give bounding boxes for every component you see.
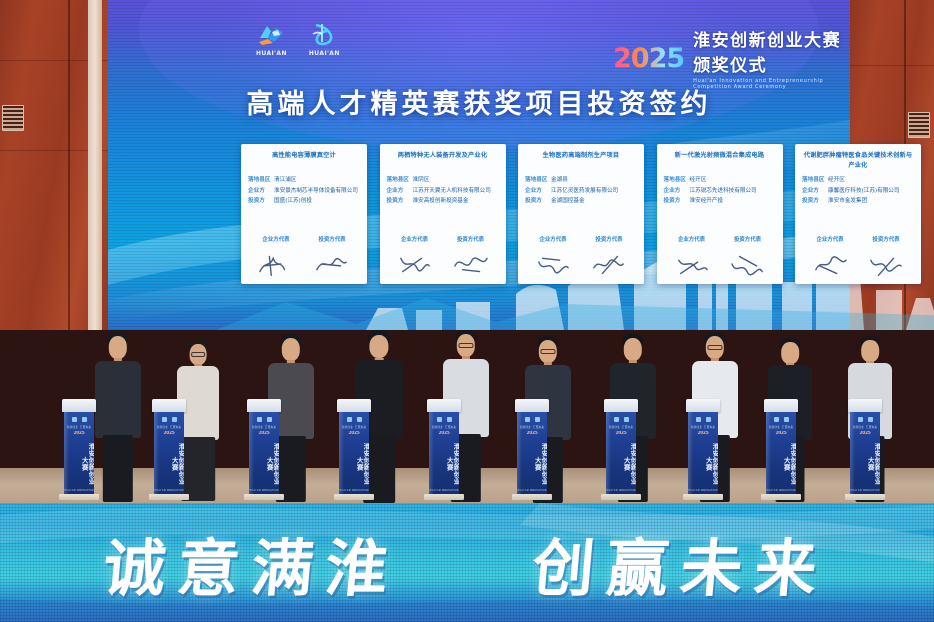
card-row-investor-label: 投资方: [802, 197, 828, 205]
lectern-base: [601, 494, 641, 500]
lectern-logo-pair: [249, 417, 279, 422]
card-row-company: 企业方江苏开天翼无人机科技有限公司: [387, 187, 499, 195]
lectern-vertical-title: 淮安创新创业大赛: [766, 440, 796, 488]
lectern-subtitle: 创新创业 汇聚未来: [606, 425, 636, 429]
lectern: 创新创业 汇聚未来2025淮安创新创业大赛HUAI'AN INNOVATION: [337, 399, 371, 500]
card-row-company-value: 康馨医疗科技(江苏)有限公司: [828, 187, 914, 195]
company-rep-signature: [807, 247, 853, 281]
page-title: 高端人才精英赛获奖项目投资签约: [108, 82, 850, 121]
card-row-district-value: 金湖县: [551, 176, 637, 184]
card-row-investor: 投资方淮安经开产投: [664, 197, 776, 205]
lectern-logo-pair: [850, 417, 880, 422]
lectern-banner: 创新创业 汇聚未来2025淮安创新创业大赛HUAI'AN INNOVATION: [64, 412, 94, 494]
lectern-banner: 创新创业 汇聚未来2025淮安创新创业大赛HUAI'AN INNOVATION: [766, 412, 796, 494]
lectern-logo-right: [357, 417, 362, 422]
company-rep-signature: [392, 247, 438, 281]
lectern-top-surface: [152, 399, 186, 412]
lectern-row: 创新创业 汇聚未来2025淮安创新创业大赛HUAI'AN INNOVATION创…: [0, 360, 934, 500]
lectern-base: [512, 494, 552, 500]
lectern-footer: HUAI'AN INNOVATION: [249, 489, 279, 492]
slogan-right: 创赢未来: [530, 518, 834, 608]
card-row-investor: 投资方国盛(江苏)创投: [248, 197, 360, 205]
lectern-footer: HUAI'AN INNOVATION: [339, 489, 369, 492]
lectern-subtitle-right: 汇聚未来: [445, 426, 456, 429]
lectern-banner: 创新创业 汇聚未来2025淮安创新创业大赛HUAI'AN INNOVATION: [154, 412, 184, 494]
lectern-top-surface: [515, 399, 549, 412]
card-detail-rows: 落地县区经开区企业方康馨医疗科技(江苏)有限公司投资方淮安市金发集团: [802, 176, 914, 205]
lectern-logo-right: [82, 417, 87, 422]
lectern-logo-pair: [517, 417, 547, 422]
lectern-subtitle-left: 创新创业: [853, 426, 864, 429]
lectern: 创新创业 汇聚未来2025淮安创新创业大赛HUAI'AN INNOVATION: [848, 399, 882, 500]
person-glasses: [191, 352, 205, 357]
investor-rep-label: 投资方代表: [734, 235, 761, 243]
card-row-investor-label: 投资方: [248, 197, 274, 205]
signature-row: [802, 244, 914, 284]
card-row-district: 落地县区淮阴区: [387, 176, 499, 184]
lectern-subtitle-left: 创新创业: [342, 426, 353, 429]
lectern-banner: 创新创业 汇聚未来2025淮安创新创业大赛HUAI'AN INNOVATION: [517, 412, 547, 494]
card-title: 新一代激光射频微混合集成电路: [664, 151, 776, 171]
lectern-base: [424, 494, 464, 500]
event-header: 2025 淮安创新创业大赛颁奖仪式 Huai'an Innovation and…: [613, 26, 850, 90]
lectern-subtitle-left: 创新创业: [691, 426, 702, 429]
signing-card: 两栖特种无人装备开发及产业化落地县区淮阴区企业方江苏开天翼无人机科技有限公司投资…: [380, 144, 506, 284]
signature-row: [387, 244, 499, 284]
signature-row: [525, 244, 637, 284]
lectern-vertical-title: 淮安创新创业大赛: [249, 440, 279, 488]
lectern-top-surface: [686, 399, 720, 412]
card-row-investor-label: 投资方: [525, 197, 551, 205]
lectern-footer: HUAI'AN INNOVATION: [517, 489, 547, 492]
lectern-logo-right: [624, 417, 629, 422]
person-glasses: [707, 345, 722, 350]
lectern-top-surface: [62, 399, 96, 412]
huaian-culture-icon: [309, 22, 339, 48]
lectern-base: [59, 494, 99, 500]
lectern-logo-pair: [766, 417, 796, 422]
event-title-cn: 淮安创新创业大赛颁奖仪式: [693, 26, 850, 76]
lectern-footer: HUAI'AN INNOVATION: [766, 489, 796, 492]
lectern: 创新创业 汇聚未来2025淮安创新创业大赛HUAI'AN INNOVATION: [764, 399, 798, 500]
card-row-investor-value: 淮安市金发集团: [828, 197, 914, 205]
lectern-subtitle-right: 汇聚未来: [355, 426, 366, 429]
lectern-logo-left: [162, 417, 167, 422]
card-title: 代谢肥胖肿瘤特医食品关键技术创新与产业化: [802, 151, 914, 171]
card-row-company-value: 江苏锐芯先进科技有限公司: [690, 187, 776, 195]
lectern-subtitle: 创新创业 汇聚未来: [429, 425, 459, 429]
lectern-footer: HUAI'AN INNOVATION: [850, 489, 880, 492]
investor-rep-label: 投资方代表: [873, 235, 900, 243]
lectern-banner: 创新创业 汇聚未来2025淮安创新创业大赛HUAI'AN INNOVATION: [249, 412, 279, 494]
lectern-base: [244, 494, 284, 500]
lectern-logo-pair: [154, 417, 184, 422]
card-title: 生物医药高端制剂生产项目: [525, 151, 637, 171]
lectern-logo-right: [535, 417, 540, 422]
lectern-subtitle-left: 创新创业: [157, 426, 168, 429]
lectern: 创新创业 汇聚未来2025淮安创新创业大赛HUAI'AN INNOVATION: [152, 399, 186, 500]
card-row-investor: 投资方淮安市金发集团: [802, 197, 914, 205]
lectern-logo-right: [868, 417, 873, 422]
card-row-company: 企业方江苏锐芯先进科技有限公司: [664, 187, 776, 195]
card-row-company-value: 淮安景杰制芯半导体设备有限公司: [274, 187, 360, 195]
signing-card: 生物医药高端制剂生产项目落地县区金湖县企业方江苏亿灵医药发展有限公司投资方金湖国…: [518, 144, 644, 284]
representative-labels: 企业方代表投资方代表: [802, 235, 914, 244]
card-row-company-label: 企业方: [664, 187, 690, 195]
lectern-year: 2025: [766, 431, 796, 436]
investor-rep-label: 投资方代表: [596, 235, 623, 243]
lectern-subtitle: 创新创业 汇聚未来: [688, 425, 718, 429]
lectern-logo-pair: [429, 417, 459, 422]
lectern: 创新创业 汇聚未来2025淮安创新创业大赛HUAI'AN INNOVATION: [686, 399, 720, 500]
lectern-subtitle: 创新创业 汇聚未来: [517, 425, 547, 429]
stage-scene: HUAI'AN HUAI'AN 2025 淮安创新创业大赛颁奖仪式 Huai'a…: [0, 0, 934, 622]
slogan-left: 诚意满淮: [101, 518, 405, 608]
lectern-top-surface: [337, 399, 371, 412]
lectern-footer: HUAI'AN INNOVATION: [154, 489, 184, 492]
lectern-vertical-title: 淮安创新创业大赛: [429, 440, 459, 488]
lectern-subtitle: 创新创业 汇聚未来: [766, 425, 796, 429]
lectern-banner: 创新创业 汇聚未来2025淮安创新创业大赛HUAI'AN INNOVATION: [850, 412, 880, 494]
brand-logos: HUAI'AN HUAI'AN: [256, 22, 340, 57]
lectern-vertical-title: 淮安创新创业大赛: [606, 440, 636, 488]
card-row-district-label: 落地县区: [387, 176, 413, 184]
lectern-subtitle: 创新创业 汇聚未来: [154, 425, 184, 429]
card-row-company-value: 江苏亿灵医药发展有限公司: [551, 187, 637, 195]
card-row-company: 企业方江苏亿灵医药发展有限公司: [525, 187, 637, 195]
investor-rep-signature: [586, 247, 632, 281]
lectern-vertical-title: 淮安创新创业大赛: [850, 440, 880, 488]
lectern-logo-right: [172, 417, 177, 422]
signing-cards-list: 高性能电容薄膜真空计落地县区清江浦区企业方淮安景杰制芯半导体设备有限公司投资方国…: [241, 144, 921, 284]
lectern-logo-right: [784, 417, 789, 422]
lectern-base: [149, 494, 189, 500]
lectern-logo-pair: [64, 417, 94, 422]
lectern: 创新创业 汇聚未来2025淮安创新创业大赛HUAI'AN INNOVATION: [427, 399, 461, 500]
lectern-year: 2025: [688, 431, 718, 436]
signing-card: 高性能电容薄膜真空计落地县区清江浦区企业方淮安景杰制芯半导体设备有限公司投资方国…: [241, 144, 367, 284]
card-row-company: 企业方淮安景杰制芯半导体设备有限公司: [248, 187, 360, 195]
investor-rep-signature: [309, 247, 355, 281]
lectern-banner: 创新创业 汇聚未来2025淮安创新创业大赛HUAI'AN INNOVATION: [429, 412, 459, 494]
lectern-footer: HUAI'AN INNOVATION: [429, 489, 459, 492]
card-row-district-label: 落地县区: [664, 176, 690, 184]
lectern-year: 2025: [339, 431, 369, 436]
card-row-company-value: 江苏开天翼无人机科技有限公司: [413, 187, 499, 195]
lectern-logo-left: [614, 417, 619, 422]
lectern-logo-right: [447, 417, 452, 422]
lectern-footer: HUAI'AN INNOVATION: [688, 489, 718, 492]
investor-rep-signature: [863, 247, 909, 281]
card-detail-rows: 落地县区清江浦区企业方淮安景杰制芯半导体设备有限公司投资方国盛(江苏)创投: [248, 176, 360, 205]
card-row-investor-value: 金湖国控基金: [551, 197, 637, 205]
lectern-subtitle: 创新创业 汇聚未来: [64, 425, 94, 429]
lectern-year: 2025: [850, 431, 880, 436]
lectern-logo-left: [257, 417, 262, 422]
card-row-investor-value: 淮安经开产投: [690, 197, 776, 205]
lectern-subtitle-right: 汇聚未来: [170, 426, 181, 429]
person-head: [282, 338, 300, 360]
company-rep-label: 企业方代表: [540, 235, 567, 243]
huaian-city-icon: [256, 22, 286, 48]
led-backdrop-screen: HUAI'AN HUAI'AN 2025 淮安创新创业大赛颁奖仪式 Huai'a…: [108, 0, 850, 330]
lectern-logo-pair: [339, 417, 369, 422]
card-row-district-value: 淮阴区: [413, 176, 499, 184]
lectern-banner: 创新创业 汇聚未来2025淮安创新创业大赛HUAI'AN INNOVATION: [339, 412, 369, 494]
card-row-district-value: 经开区: [828, 176, 914, 184]
card-row-district-value: 经开区: [690, 176, 776, 184]
card-row-district-label: 落地县区: [248, 176, 274, 184]
card-row-investor: 投资方淮安高投创新投资基金: [387, 197, 499, 205]
lectern-vertical-title: 淮安创新创业大赛: [339, 440, 369, 488]
person-glasses: [458, 343, 473, 348]
card-row-district: 落地县区经开区: [664, 176, 776, 184]
lectern-subtitle-right: 汇聚未来: [704, 426, 715, 429]
lectern-logo-left: [774, 417, 779, 422]
lectern-subtitle-right: 汇聚未来: [80, 426, 91, 429]
lectern-logo-left: [437, 417, 442, 422]
investor-rep-signature: [725, 247, 771, 281]
lectern-base: [683, 494, 723, 500]
company-rep-signature: [669, 247, 715, 281]
lectern-subtitle-left: 创新创业: [520, 426, 531, 429]
card-row-district: 落地县区经开区: [802, 176, 914, 184]
card-detail-rows: 落地县区经开区企业方江苏锐芯先进科技有限公司投资方淮安经开产投: [664, 176, 776, 205]
lectern: 创新创业 汇聚未来2025淮安创新创业大赛HUAI'AN INNOVATION: [604, 399, 638, 500]
person-head: [624, 338, 642, 360]
card-row-district: 落地县区清江浦区: [248, 176, 360, 184]
lectern-subtitle-left: 创新创业: [769, 426, 780, 429]
lectern-vertical-title: 淮安创新创业大赛: [64, 440, 94, 488]
logo-huaian-city: HUAI'AN: [256, 22, 287, 57]
card-row-investor-value: 淮安高投创新投资基金: [413, 197, 499, 205]
lectern-year: 2025: [606, 431, 636, 436]
investor-rep-signature: [448, 247, 494, 281]
card-row-district-value: 清江浦区: [274, 176, 360, 184]
wall-vent-right: [908, 112, 930, 138]
person-glasses: [540, 349, 555, 354]
lectern-subtitle-right: 汇聚未来: [265, 426, 276, 429]
card-detail-rows: 落地县区金湖县企业方江苏亿灵医药发展有限公司投资方金湖国控基金: [525, 176, 637, 205]
company-rep-label: 企业方代表: [817, 235, 844, 243]
lectern-footer: HUAI'AN INNOVATION: [64, 489, 94, 492]
lectern-subtitle: 创新创业 汇聚未来: [850, 425, 880, 429]
card-row-company: 企业方康馨医疗科技(江苏)有限公司: [802, 187, 914, 195]
card-row-company-label: 企业方: [248, 187, 274, 195]
wall-trim-left: [88, 0, 102, 330]
lectern-subtitle-right: 汇聚未来: [866, 426, 877, 429]
person-head: [109, 336, 127, 358]
lectern-top-surface: [604, 399, 638, 412]
signing-card: 新一代激光射频微混合集成电路落地县区经开区企业方江苏锐芯先进科技有限公司投资方淮…: [657, 144, 783, 284]
lectern-vertical-title: 淮安创新创业大赛: [517, 440, 547, 488]
card-row-investor-label: 投资方: [387, 197, 413, 205]
lectern-top-surface: [848, 399, 882, 412]
signing-card: 代谢肥胖肿瘤特医食品关键技术创新与产业化落地县区经开区企业方康馨医疗科技(江苏)…: [795, 144, 921, 284]
card-row-company-label: 企业方: [387, 187, 413, 195]
lectern-logo-pair: [606, 417, 636, 422]
card-row-district-label: 落地县区: [802, 176, 828, 184]
card-row-investor: 投资方金湖国控基金: [525, 197, 637, 205]
lectern-year: 2025: [64, 431, 94, 436]
representative-labels: 企业方代表投资方代表: [664, 235, 776, 244]
lectern-banner: 创新创业 汇聚未来2025淮安创新创业大赛HUAI'AN INNOVATION: [688, 412, 718, 494]
lectern-year: 2025: [429, 431, 459, 436]
lectern-base: [761, 494, 801, 500]
card-title: 高性能电容薄膜真空计: [248, 151, 360, 171]
card-row-investor-value: 国盛(江苏)创投: [274, 197, 360, 205]
wall-vent-left: [2, 105, 24, 131]
lectern-year: 2025: [249, 431, 279, 436]
lectern: 创新创业 汇聚未来2025淮安创新创业大赛HUAI'AN INNOVATION: [515, 399, 549, 500]
floor-slogan: 诚意满淮 创赢未来: [0, 503, 934, 622]
card-row-company-label: 企业方: [802, 187, 828, 195]
representative-labels: 企业方代表投资方代表: [248, 235, 360, 244]
card-row-district-label: 落地县区: [525, 176, 551, 184]
event-year: 2025: [613, 43, 684, 74]
lectern-logo-pair: [688, 417, 718, 422]
logo-word-culture: HUAI'AN: [309, 50, 340, 57]
signature-row: [664, 244, 776, 284]
lectern-top-surface: [427, 399, 461, 412]
lectern-subtitle: 创新创业 汇聚未来: [249, 425, 279, 429]
company-rep-signature: [253, 247, 299, 281]
person-head: [861, 340, 879, 361]
representative-labels: 企业方代表投资方代表: [387, 235, 499, 244]
investor-rep-label: 投资方代表: [457, 235, 484, 243]
lectern-logo-left: [72, 417, 77, 422]
card-detail-rows: 落地县区淮阴区企业方江苏开天翼无人机科技有限公司投资方淮安高投创新投资基金: [387, 176, 499, 205]
lectern-subtitle-left: 创新创业: [67, 426, 78, 429]
card-title: 两栖特种无人装备开发及产业化: [387, 151, 499, 171]
card-row-company-label: 企业方: [525, 187, 551, 195]
lectern: 创新创业 汇聚未来2025淮安创新创业大赛HUAI'AN INNOVATION: [247, 399, 281, 500]
lectern-subtitle-right: 汇聚未来: [533, 426, 544, 429]
representative-labels: 企业方代表投资方代表: [525, 235, 637, 244]
lectern: 创新创业 汇聚未来2025淮安创新创业大赛HUAI'AN INNOVATION: [62, 399, 96, 500]
lectern-logo-right: [267, 417, 272, 422]
led-floor-panel: 诚意满淮 创赢未来: [0, 503, 934, 622]
lectern-logo-left: [347, 417, 352, 422]
lectern-top-surface: [247, 399, 281, 412]
lectern-base: [334, 494, 374, 500]
company-rep-signature: [530, 247, 576, 281]
company-rep-label: 企业方代表: [678, 235, 705, 243]
lectern-year: 2025: [154, 431, 184, 436]
lectern-subtitle-left: 创新创业: [252, 426, 263, 429]
card-row-investor-label: 投资方: [664, 197, 690, 205]
lectern-banner: 创新创业 汇聚未来2025淮安创新创业大赛HUAI'AN INNOVATION: [606, 412, 636, 494]
lectern-logo-left: [858, 417, 863, 422]
lectern-vertical-title: 淮安创新创业大赛: [154, 440, 184, 488]
lectern-footer: HUAI'AN INNOVATION: [606, 489, 636, 492]
lectern-vertical-title: 淮安创新创业大赛: [688, 440, 718, 488]
company-rep-label: 企业方代表: [263, 235, 290, 243]
card-row-district: 落地县区金湖县: [525, 176, 637, 184]
lectern-subtitle-left: 创新创业: [609, 426, 620, 429]
person-head: [369, 335, 388, 358]
company-rep-label: 企业方代表: [401, 235, 428, 243]
lectern-subtitle-left: 创新创业: [432, 426, 443, 429]
lectern-base: [845, 494, 885, 500]
logo-huaian-culture: HUAI'AN: [309, 22, 340, 57]
lectern-subtitle: 创新创业 汇聚未来: [339, 425, 369, 429]
lectern-logo-left: [696, 417, 701, 422]
lectern-top-surface: [764, 399, 798, 412]
lectern-year: 2025: [517, 431, 547, 436]
lectern-subtitle-right: 汇聚未来: [622, 426, 633, 429]
lectern-logo-right: [706, 417, 711, 422]
lectern-logo-left: [525, 417, 530, 422]
logo-word-city: HUAI'AN: [256, 50, 287, 57]
lectern-subtitle-right: 汇聚未来: [782, 426, 793, 429]
investor-rep-label: 投资方代表: [319, 235, 346, 243]
signature-row: [248, 244, 360, 284]
